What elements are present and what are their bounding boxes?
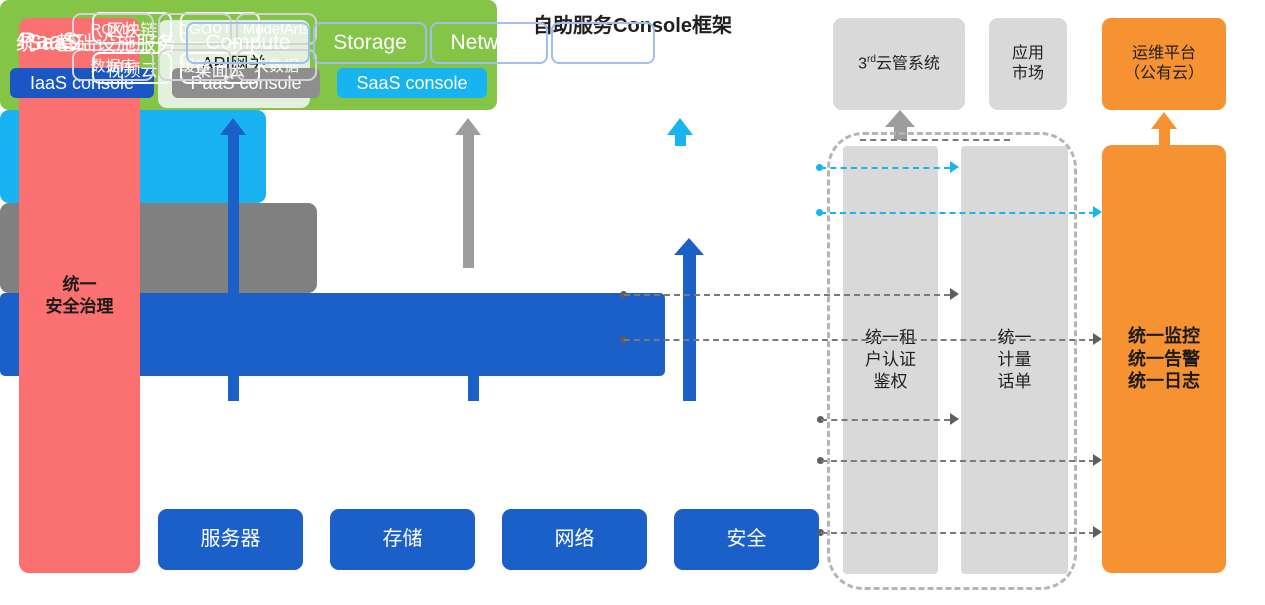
bottom-item-security-label: 安全 bbox=[727, 527, 767, 552]
arrow-stem-api-gateway bbox=[228, 134, 239, 401]
unified-infrastructure-label: 统一基础设施服务 bbox=[16, 27, 176, 56]
connector-line-paas-to-auth bbox=[624, 294, 950, 296]
unified-tenant-auth-column: 统一租 户认证 鉴权 bbox=[843, 146, 938, 574]
unified-metering-billing-label: 统一 计量 话单 bbox=[998, 327, 1032, 393]
security-governance-label: 统一 安全治理 bbox=[46, 274, 114, 317]
arrow-head-infra-to-saas bbox=[674, 238, 704, 255]
connector-arrow-bottom-to-ops bbox=[1093, 526, 1102, 538]
bottom-item-server-label: 服务器 bbox=[201, 527, 261, 552]
arrow-stem-saas-to-console bbox=[675, 134, 686, 146]
connector-arrow-paas-to-auth bbox=[950, 288, 959, 300]
arrow-stem-infra-to-paas bbox=[468, 375, 479, 401]
connector-line-to-thirdparty bbox=[860, 139, 1010, 141]
app-market-label: 应用 市场 bbox=[1012, 44, 1044, 84]
arrow-head-dashed-to-thirdparty bbox=[885, 110, 915, 127]
third-party-cloud-mgmt-label: 3rd云管系统 bbox=[858, 54, 940, 74]
infra-item-compute[interactable]: Compute bbox=[186, 22, 310, 64]
arrow-head-paas-to-console bbox=[455, 118, 481, 135]
infra-item-cce[interactable]: CCE bbox=[551, 22, 655, 64]
connector-line-saas-to-ops bbox=[820, 212, 1095, 214]
connector-arrow-infra-to-ops bbox=[1093, 454, 1102, 466]
connector-line-infra-to-ops bbox=[821, 460, 1095, 462]
ops-platform-box: 运维平台 （公有云） bbox=[1102, 18, 1226, 110]
connector-line-paas-to-ops bbox=[624, 339, 1095, 341]
bottom-item-storage: 存储 bbox=[330, 509, 475, 570]
connector-line-saas-to-auth bbox=[820, 167, 950, 169]
arrow-head-saas-to-console bbox=[667, 118, 693, 135]
bottom-item-network-label: 网络 bbox=[555, 527, 595, 552]
app-market-box: 应用 市场 bbox=[989, 18, 1067, 110]
infra-item-network[interactable]: Network bbox=[430, 22, 548, 64]
bottom-item-security: 安全 bbox=[674, 509, 819, 570]
connector-arrow-saas-to-auth bbox=[950, 161, 959, 173]
saas-console-chip[interactable]: SaaS console bbox=[337, 68, 487, 98]
bottom-item-network: 网络 bbox=[502, 509, 647, 570]
connector-line-infra-to-auth bbox=[821, 419, 950, 421]
connector-arrow-paas-to-ops bbox=[1093, 333, 1102, 345]
unified-tenant-auth-label: 统一租 户认证 鉴权 bbox=[865, 327, 916, 393]
ops-platform-label: 运维平台 （公有云） bbox=[1124, 44, 1204, 84]
unified-monitoring-label: 统一监控 统一告警 统一日志 bbox=[1128, 325, 1200, 393]
security-governance-panel: 统一 安全治理 bbox=[19, 18, 140, 573]
bottom-item-storage-label: 存储 bbox=[383, 527, 423, 552]
connector-arrow-infra-to-auth bbox=[950, 413, 959, 425]
infra-item-storage[interactable]: Storage bbox=[313, 22, 427, 64]
unified-metering-billing-column: 统一 计量 话单 bbox=[961, 146, 1068, 574]
arrow-head-api-gateway bbox=[220, 118, 246, 135]
third-party-cloud-mgmt-box: 3rd云管系统 bbox=[833, 18, 965, 110]
unified-monitoring-panel: 统一监控 统一告警 统一日志 bbox=[1102, 145, 1226, 573]
bottom-item-server: 服务器 bbox=[158, 509, 303, 570]
arrow-stem-infra-to-saas bbox=[683, 255, 696, 401]
arrow-stem-paas-to-console bbox=[463, 134, 474, 268]
arrow-head-infra-to-paas bbox=[460, 359, 486, 376]
connector-line-bottom-to-ops bbox=[821, 532, 1095, 534]
connector-arrow-saas-to-ops bbox=[1093, 206, 1102, 218]
architecture-diagram: 统一 安全治理 API网关 自助服务Console框架 IaaS console… bbox=[0, 0, 1265, 605]
arrow-head-ops-platform bbox=[1151, 112, 1177, 129]
